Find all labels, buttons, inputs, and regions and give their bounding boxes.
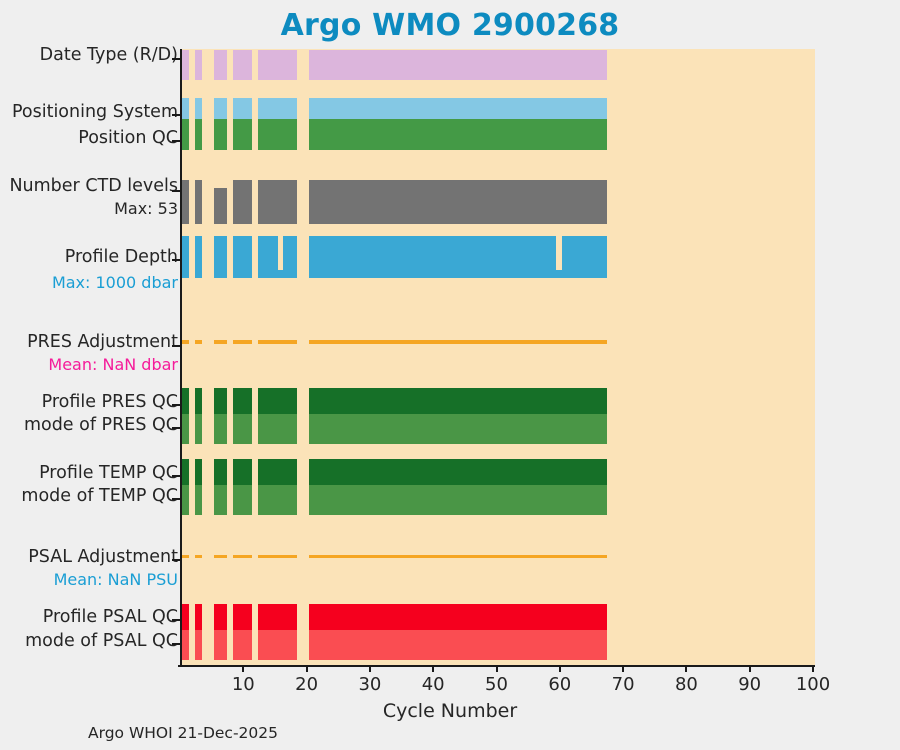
y-axis-label-mode-of-pres-qc: mode of PRES QC — [24, 417, 178, 435]
y-axis-label-pres-adjustment: PRES Adjustment — [27, 334, 178, 352]
x-axis-tick — [622, 665, 624, 672]
bar-segment — [600, 485, 607, 515]
bar-segment — [220, 555, 227, 558]
x-axis-tick — [306, 665, 308, 672]
bar-segment — [182, 119, 189, 150]
bar-segment — [195, 180, 202, 224]
y-axis-label-profile-depth: Profile Depth — [65, 249, 178, 267]
y-axis-label-profile-psal-qc: Profile PSAL QC — [43, 609, 178, 627]
plot-area — [180, 49, 815, 665]
bar-segment — [245, 50, 252, 80]
x-axis-tick-label: 90 — [720, 674, 780, 695]
bar-segment — [245, 555, 252, 558]
bar-segment — [220, 630, 227, 660]
bar-segment — [182, 236, 189, 278]
x-axis-tick — [685, 665, 687, 672]
bar-segment — [245, 414, 252, 444]
bar-segment — [182, 630, 189, 660]
y-axis-label-number-ctd-levels: Number CTD levels — [9, 178, 178, 196]
bar-segment — [220, 236, 227, 278]
footer-credit: Argo WHOI 21-Dec-2025 — [88, 724, 278, 742]
bar-segment — [220, 188, 227, 224]
y-axis-tick-mode-of-psal-qc — [172, 643, 180, 645]
data-row-mode-of-psal-qc — [182, 630, 815, 660]
x-axis-tick-label: 70 — [593, 674, 653, 695]
y-axis-label-profile-temp-qc: Profile TEMP QC — [39, 465, 178, 483]
x-axis-tick-label: 100 — [783, 674, 843, 695]
y-axis-tick-profile-temp-qc — [172, 475, 180, 477]
bar-segment — [600, 180, 607, 224]
bar-segment — [182, 414, 189, 444]
data-row-position-qc — [182, 119, 815, 150]
y-axis-label-psal-adjustment: PSAL Adjustment — [28, 549, 178, 567]
data-row-pres-adjustment — [182, 340, 815, 344]
x-axis-tick — [559, 665, 561, 672]
data-row-date-type — [182, 50, 815, 80]
bar-segment — [182, 50, 189, 80]
bar-segment — [600, 119, 607, 150]
x-axis-tick-label: 20 — [277, 674, 337, 695]
x-axis-tick-label: 40 — [403, 674, 463, 695]
bar-segment — [195, 340, 202, 344]
bar-segment — [600, 236, 607, 278]
y-axis-label-profile-pres-qc: Profile PRES QC — [42, 394, 178, 412]
x-axis-tick — [812, 665, 814, 672]
data-row-profile-depth — [182, 236, 815, 278]
y-axis-tick-number-ctd-levels — [172, 190, 180, 192]
bar-segment — [290, 236, 297, 278]
y-axis-sublabel-pres-adjustment: Mean: NaN dbar — [48, 357, 178, 373]
y-axis-tick-pres-adjustment — [172, 345, 180, 347]
bar-segment — [290, 485, 297, 515]
bar-segment — [600, 340, 607, 344]
y-axis-label-position-qc: Position QC — [78, 130, 178, 148]
y-axis-tick-psal-adjustment — [172, 559, 180, 561]
bar-segment — [195, 119, 202, 150]
bar-segment — [195, 50, 202, 80]
y-axis-label-date-type: Date Type (R/D) — [40, 47, 178, 65]
bar-segment — [245, 340, 252, 344]
bar-segment — [245, 630, 252, 660]
bar-segment — [182, 180, 189, 224]
x-axis-tick-label: 60 — [530, 674, 590, 695]
y-axis-sublabel-number-ctd-levels: Max: 53 — [114, 201, 178, 217]
bar-segment — [245, 180, 252, 224]
y-axis-label-mode-of-temp-qc: mode of TEMP QC — [21, 488, 178, 506]
bar-segment — [220, 485, 227, 515]
x-axis-title: Cycle Number — [0, 700, 900, 722]
y-axis-tick-position-qc — [172, 140, 180, 142]
bar-segment — [182, 485, 189, 515]
bar-segment — [290, 119, 297, 150]
bar-segment — [195, 236, 202, 278]
x-axis-tick — [432, 665, 434, 672]
x-axis-tick — [749, 665, 751, 672]
data-row-mode-of-pres-qc — [182, 414, 815, 444]
y-axis-tick-mode-of-temp-qc — [172, 498, 180, 500]
bar-segment — [600, 630, 607, 660]
bar-segment — [195, 485, 202, 515]
bar-segment — [182, 340, 189, 344]
bar-segment — [290, 50, 297, 80]
x-axis-tick-label: 50 — [467, 674, 527, 695]
y-axis-tick-profile-depth — [172, 259, 180, 261]
y-axis-sublabel-psal-adjustment: Mean: NaN PSU — [54, 572, 178, 588]
y-axis-tick-positioning-system — [172, 114, 180, 116]
data-row-number-ctd-levels — [182, 180, 815, 224]
x-axis-tick — [496, 665, 498, 672]
bar-segment — [220, 340, 227, 344]
bar-segment — [290, 630, 297, 660]
bar-segment — [290, 340, 297, 344]
bar-segment — [195, 555, 202, 558]
x-axis-tick — [369, 665, 371, 672]
bar-segment — [195, 630, 202, 660]
bar-segment — [245, 236, 252, 278]
y-axis-tick-date-type — [172, 58, 180, 60]
bar-segment — [600, 414, 607, 444]
bar-segment — [290, 180, 297, 224]
x-axis-tick — [242, 665, 244, 672]
data-row-mode-of-temp-qc — [182, 485, 815, 515]
bar-segment — [245, 119, 252, 150]
bar-segment — [290, 555, 297, 558]
bar-segment — [220, 50, 227, 80]
y-axis-label-positioning-system: Positioning System — [12, 104, 178, 122]
y-axis-tick-mode-of-pres-qc — [172, 427, 180, 429]
x-axis-tick-label: 80 — [656, 674, 716, 695]
x-axis-tick-label: 30 — [340, 674, 400, 695]
x-axis-tick-label: 10 — [213, 674, 273, 695]
y-axis-tick-profile-psal-qc — [172, 619, 180, 621]
y-axis-label-mode-of-psal-qc: mode of PSAL QC — [25, 633, 178, 651]
bar-segment — [220, 119, 227, 150]
data-row-psal-adjustment — [182, 555, 815, 558]
bar-segment — [245, 485, 252, 515]
y-axis-sublabel-profile-depth: Max: 1000 dbar — [52, 275, 178, 291]
page-title: Argo WMO 2900268 — [0, 8, 900, 43]
y-axis-tick-profile-pres-qc — [172, 404, 180, 406]
bar-segment — [290, 414, 297, 444]
bar-segment — [220, 414, 227, 444]
bar-segment — [600, 50, 607, 80]
bar-segment — [182, 555, 189, 558]
bar-segment — [195, 414, 202, 444]
bar-segment — [600, 555, 607, 558]
